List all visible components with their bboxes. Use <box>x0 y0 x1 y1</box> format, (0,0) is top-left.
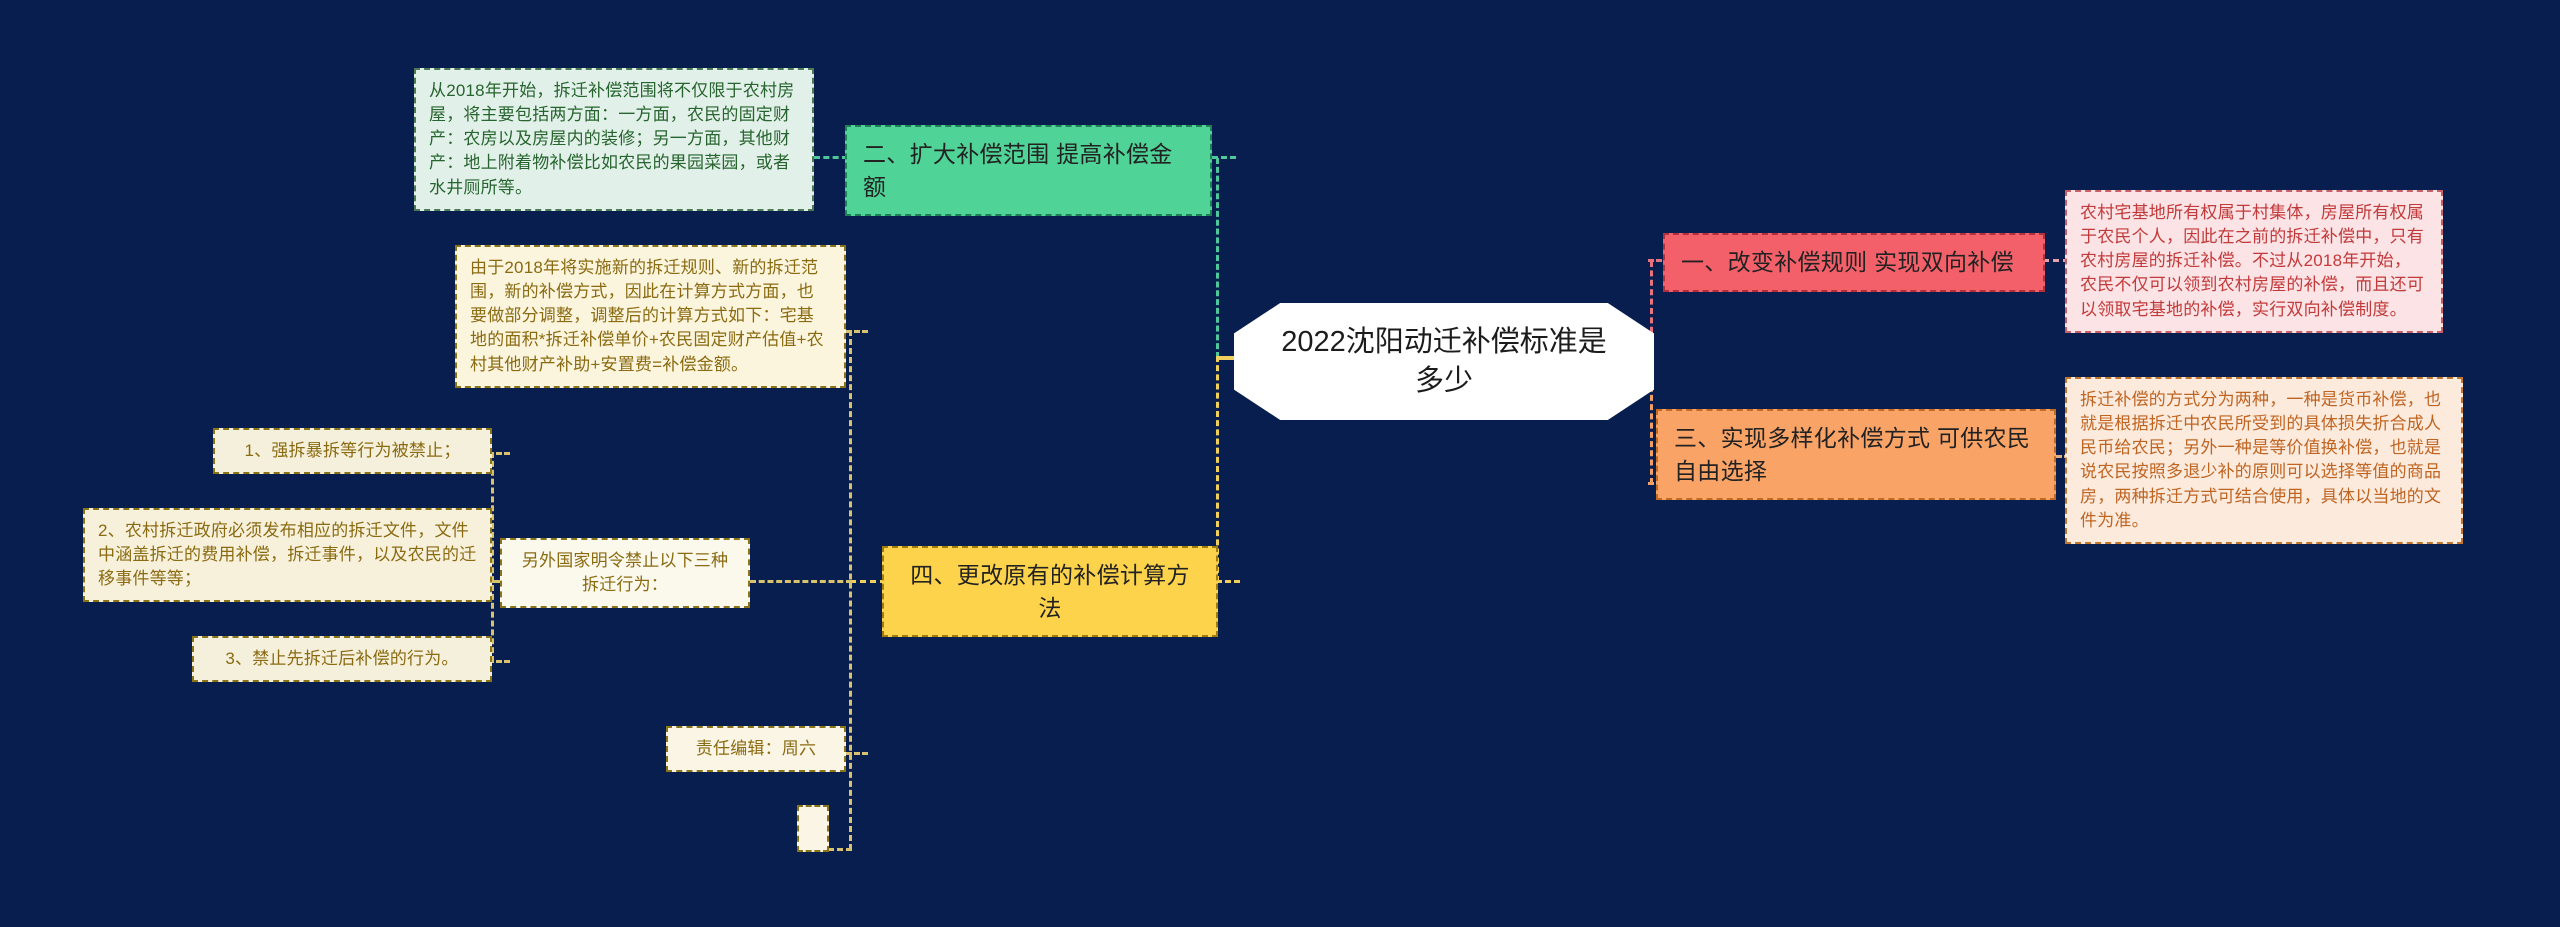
connector-detail8-horizontal <box>828 848 852 851</box>
detail-node-editor-credit[interactable]: 责任编辑：周六 <box>666 726 846 772</box>
branch-node-diverse-compensation[interactable]: 三、实现多样化补偿方式 可供农民自由选择 <box>1656 409 2056 500</box>
connector-branch4-subspine <box>849 330 852 850</box>
connector-branch4-left-horizontal <box>850 580 886 583</box>
detail-node-two-way-compensation[interactable]: 农村宅基地所有权属于村集体，房屋所有权属于农民个人，因此在之前的拆迁补偿中，只有… <box>2065 190 2443 333</box>
detail-node-no-demolish-before-compensation[interactable]: 3、禁止先拆迁后补偿的行为。 <box>192 636 492 682</box>
branch-node-change-rules[interactable]: 一、改变补偿规则 实现双向补偿 <box>1663 233 2045 292</box>
detail-node-expand-scope[interactable]: 从2018年开始，拆迁补偿范围将不仅限于农村房屋，将主要包括两方面：一方面，农民… <box>414 68 814 211</box>
detail-node-banned-forced-demolition[interactable]: 1、强拆暴拆等行为被禁止； <box>213 428 492 474</box>
branch-node-change-calculation[interactable]: 四、更改原有的补偿计算方法 <box>882 546 1218 637</box>
connector-detail2-horizontal <box>846 330 868 333</box>
connector-detail7-horizontal <box>846 752 868 755</box>
detail-node-government-documents[interactable]: 2、农村拆迁政府必须发布相应的拆迁文件，文件中涵盖拆迁的费用补偿，拆迁事件，以及… <box>83 508 492 602</box>
connector-center-to-branch2-vertical <box>1216 158 1219 358</box>
connector-branch4-horizontal <box>1216 580 1240 583</box>
detail-node-compensation-types[interactable]: 拆迁补偿的方式分为两种，一种是货币补偿，也就是根据拆迁中农民所受到的具体损失折合… <box>2065 377 2463 544</box>
detail-node-banned-behaviours-intro[interactable]: 另外国家明令禁止以下三种拆迁行为： <box>500 538 750 608</box>
detail-node-empty[interactable] <box>797 805 829 852</box>
connector-branch2-leaf-horizontal <box>814 156 848 159</box>
mindmap-canvas: 从2018年开始，拆迁补偿范围将不仅限于农村房屋，将主要包括两方面：一方面，农民… <box>0 0 2560 927</box>
connector-branch2-horizontal <box>1212 156 1236 159</box>
connector-detail6-horizontal <box>750 580 852 583</box>
branch-node-expand-scope[interactable]: 二、扩大补偿范围 提高补偿金额 <box>845 125 1212 216</box>
center-node-title[interactable]: 2022沈阳动迁补偿标准是多少 <box>1234 303 1654 420</box>
detail-node-calculation-method[interactable]: 由于2018年将实施新的拆迁规则、新的拆迁范围，新的补偿方式，因此在计算方式方面… <box>455 245 846 388</box>
